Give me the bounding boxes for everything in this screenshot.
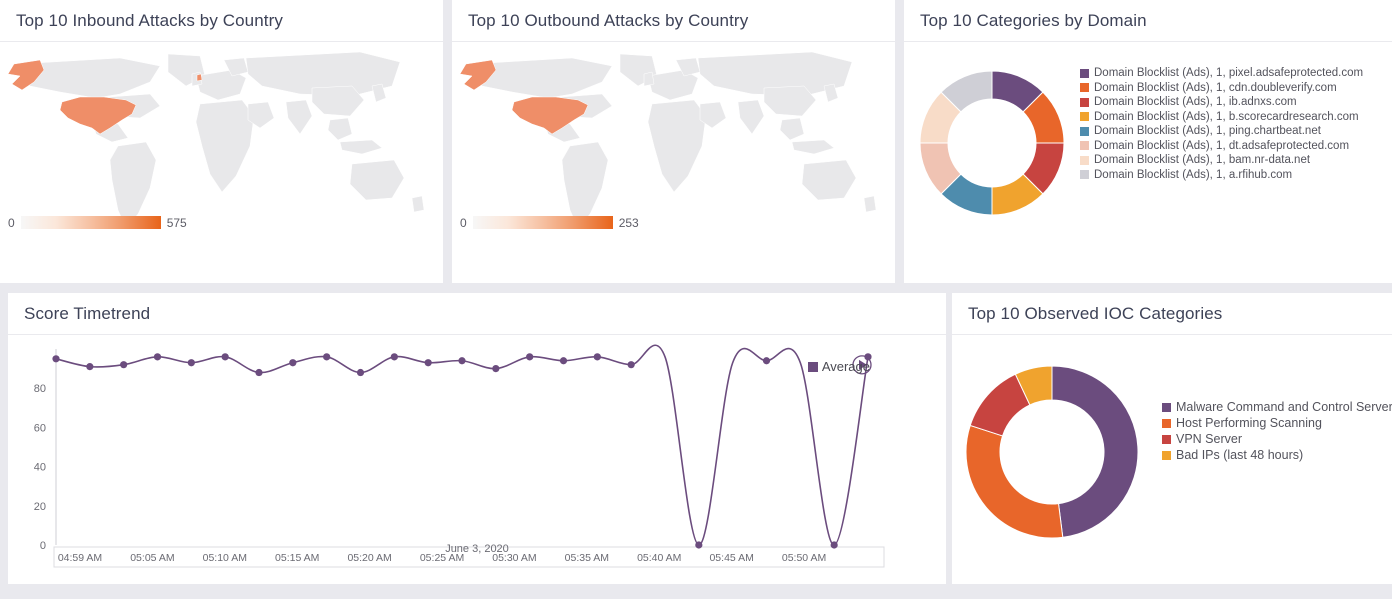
legend-item[interactable]: Domain Blocklist (Ads), 1, b.scorecardre… <box>1080 110 1363 125</box>
map-inbound[interactable]: 0 575 <box>0 42 443 242</box>
data-point-marker[interactable] <box>560 357 567 364</box>
legend-swatch <box>1080 112 1089 121</box>
data-point-marker[interactable] <box>188 359 195 366</box>
legend-label: Host Performing Scanning <box>1176 415 1322 431</box>
y-axis-tick-label: 60 <box>34 422 46 434</box>
legend-swatch <box>1162 403 1171 412</box>
data-point-marker[interactable] <box>52 355 59 362</box>
legend-swatch <box>1162 451 1171 460</box>
data-point-marker[interactable] <box>628 361 635 368</box>
panel-title-categories: Top 10 Categories by Domain <box>904 0 1392 31</box>
legend-swatch <box>1162 435 1171 444</box>
legend-swatch <box>1080 170 1089 179</box>
data-point-marker[interactable] <box>255 369 262 376</box>
legend-label: Domain Blocklist (Ads), 1, bam.nr-data.n… <box>1094 153 1310 168</box>
legend-swatch <box>1080 141 1089 150</box>
legend-label: Domain Blocklist (Ads), 1, b.scorecardre… <box>1094 110 1359 125</box>
legend-item[interactable]: Domain Blocklist (Ads), 1, pixel.adsafep… <box>1080 66 1363 81</box>
legend-swatch <box>1080 69 1089 78</box>
legend-label: Bad IPs (last 48 hours) <box>1176 447 1303 463</box>
legend-swatch <box>808 362 818 372</box>
data-point-marker[interactable] <box>357 369 364 376</box>
panel-title-observed-ioc: Top 10 Observed IOC Categories <box>952 293 1392 324</box>
panel-categories-by-domain: Top 10 Categories by Domain Domain Block… <box>904 0 1392 283</box>
donut-graphic-categories[interactable] <box>912 58 1072 233</box>
legend-swatch <box>1080 156 1089 165</box>
data-point-marker[interactable] <box>222 353 229 360</box>
x-axis-date-label: June 3, 2020 <box>8 543 946 555</box>
scale-max-label: 575 <box>167 217 187 229</box>
y-axis-tick-label: 40 <box>34 462 46 474</box>
legend-label: Domain Blocklist (Ads), 1, a.rfihub.com <box>1094 168 1292 183</box>
timetrend-body[interactable]: 02040608004:59 AM05:05 AM05:10 AM05:15 A… <box>8 335 946 584</box>
legend-item[interactable]: Domain Blocklist (Ads), 1, cdn.doublever… <box>1080 81 1363 96</box>
legend-item[interactable]: Domain Blocklist (Ads), 1, bam.nr-data.n… <box>1080 153 1363 168</box>
data-point-marker[interactable] <box>120 361 127 368</box>
legend-item[interactable]: VPN Server <box>1162 431 1392 447</box>
panel-inbound-attacks: Top 10 Inbound Attacks by Country <box>0 0 443 283</box>
legend-item[interactable]: Domain Blocklist (Ads), 1, ib.adnxs.com <box>1080 95 1363 110</box>
y-axis-tick-label: 80 <box>34 383 46 395</box>
data-point-marker[interactable] <box>458 357 465 364</box>
donut-slice[interactable] <box>966 425 1063 538</box>
world-map-svg-outbound <box>452 42 895 242</box>
panel-outbound-attacks: Top 10 Outbound Attacks by Country <box>452 0 895 283</box>
data-point-marker[interactable] <box>391 353 398 360</box>
legend-item[interactable]: Host Performing Scanning <box>1162 415 1392 431</box>
dashboard-root: Top 10 Inbound Attacks by Country <box>0 0 1392 599</box>
legend-swatch <box>1162 419 1171 428</box>
data-point-marker[interactable] <box>289 359 296 366</box>
legend-label: Domain Blocklist (Ads), 1, dt.adsafeprot… <box>1094 139 1349 154</box>
data-point-marker[interactable] <box>492 365 499 372</box>
scale-min-label: 0 <box>8 217 15 229</box>
data-point-marker[interactable] <box>763 357 770 364</box>
data-point-marker[interactable] <box>594 353 601 360</box>
legend-swatch <box>1080 83 1089 92</box>
legend-categories: Domain Blocklist (Ads), 1, pixel.adsafep… <box>1080 62 1363 182</box>
legend-item[interactable]: Domain Blocklist (Ads), 1, a.rfihub.com <box>1080 168 1363 183</box>
panel-title-timetrend: Score Timetrend <box>8 293 946 324</box>
timetrend-line <box>56 345 868 545</box>
map-outbound[interactable]: 0 253 <box>452 42 895 242</box>
legend-label: Domain Blocklist (Ads), 1, pixel.adsafep… <box>1094 66 1363 81</box>
color-scale-inbound: 0 575 <box>8 216 187 229</box>
data-point-marker[interactable] <box>154 353 161 360</box>
legend-swatch <box>1080 98 1089 107</box>
legend-item[interactable]: Bad IPs (last 48 hours) <box>1162 447 1392 463</box>
legend-label: Domain Blocklist (Ads), 1, ib.adnxs.com <box>1094 95 1297 110</box>
color-scale-outbound: 0 253 <box>460 216 639 229</box>
panel-title-outbound: Top 10 Outbound Attacks by Country <box>452 0 895 31</box>
legend-ioc: Malware Command and Control Server Host … <box>1162 395 1392 463</box>
legend-label: Domain Blocklist (Ads), 1, cdn.doublever… <box>1094 81 1337 96</box>
legend-label: Domain Blocklist (Ads), 1, ping.chartbea… <box>1094 124 1321 139</box>
panel-observed-ioc: Top 10 Observed IOC Categories Malware C… <box>952 293 1392 584</box>
timetrend-legend[interactable]: Average <box>808 359 870 374</box>
legend-label: VPN Server <box>1176 431 1242 447</box>
y-axis-tick-label: 20 <box>34 501 46 513</box>
legend-label: Malware Command and Control Server <box>1176 399 1392 415</box>
date-text: June 3, 2020 <box>57 543 897 555</box>
panel-title-inbound: Top 10 Inbound Attacks by Country <box>0 0 443 31</box>
donut-graphic-ioc[interactable] <box>958 349 1158 564</box>
legend-item[interactable]: Domain Blocklist (Ads), 1, dt.adsafeprot… <box>1080 139 1363 154</box>
donut-chart-categories: Domain Blocklist (Ads), 1, pixel.adsafep… <box>904 42 1392 233</box>
donut-chart-ioc: Malware Command and Control Server Host … <box>952 335 1392 564</box>
legend-label: Average <box>822 359 870 374</box>
scale-gradient <box>21 216 161 229</box>
donut-svg-categories <box>912 58 1072 228</box>
legend-swatch <box>1080 127 1089 136</box>
data-point-marker[interactable] <box>86 363 93 370</box>
world-map-svg-inbound <box>0 42 443 242</box>
donut-svg-ioc <box>958 349 1158 559</box>
data-point-marker[interactable] <box>425 359 432 366</box>
scale-gradient <box>473 216 613 229</box>
data-point-marker[interactable] <box>526 353 533 360</box>
scale-min-label: 0 <box>460 217 467 229</box>
legend-item[interactable]: Malware Command and Control Server <box>1162 399 1392 415</box>
scale-max-label: 253 <box>619 217 639 229</box>
panel-score-timetrend: Score Timetrend 02040608004:59 AM05:05 A… <box>8 293 946 584</box>
data-point-marker[interactable] <box>323 353 330 360</box>
legend-item[interactable]: Domain Blocklist (Ads), 1, ping.chartbea… <box>1080 124 1363 139</box>
donut-slice[interactable] <box>1052 366 1138 537</box>
